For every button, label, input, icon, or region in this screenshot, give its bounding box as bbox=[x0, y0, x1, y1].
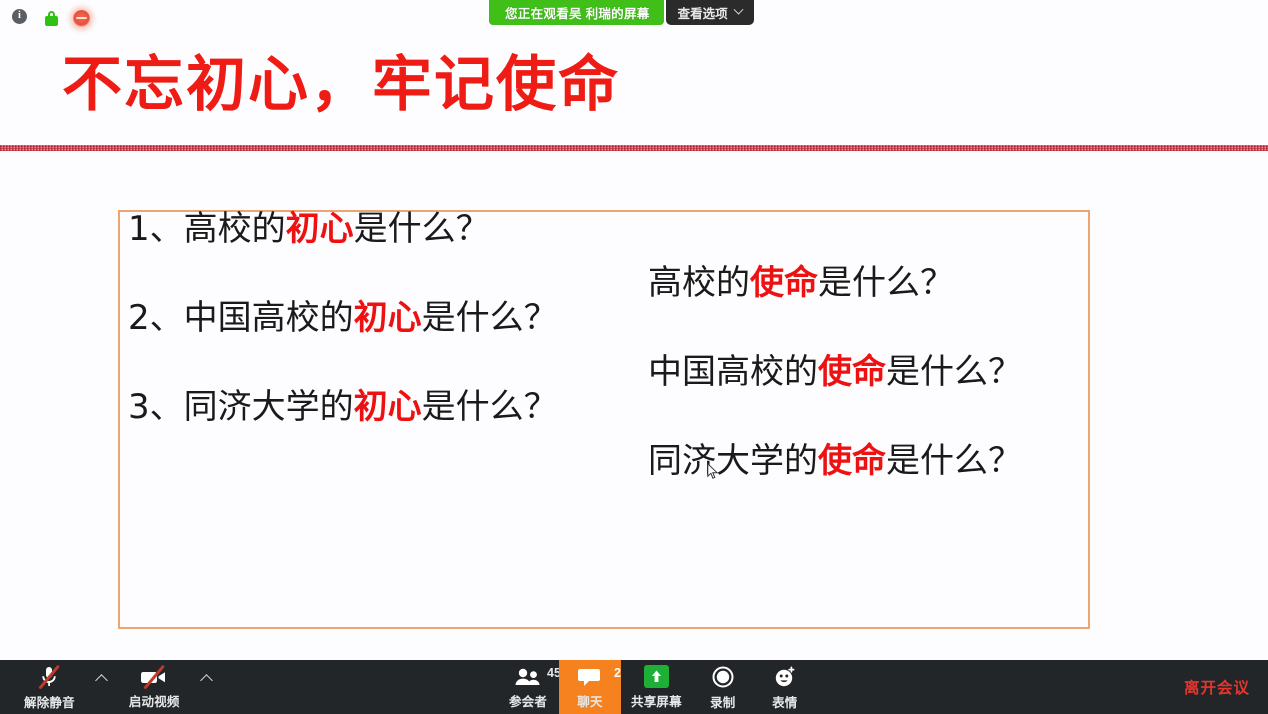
view-options-label: 查看选项 bbox=[678, 3, 728, 22]
title-divider bbox=[0, 145, 1268, 151]
chat-button[interactable]: 2 聊天 bbox=[559, 660, 621, 714]
question-item: 3、同济大学的初心是什么？ bbox=[128, 390, 628, 424]
chat-bubble-icon: 2 bbox=[576, 665, 604, 688]
share-screen-up-arrow-icon bbox=[644, 665, 669, 688]
share-screen-label: 共享屏幕 bbox=[631, 691, 682, 710]
meeting-toolbar: 解除静音 启动视频 bbox=[0, 660, 1268, 714]
question-post: 是什么？ bbox=[354, 209, 490, 249]
question-pre: 同济大学的 bbox=[184, 387, 354, 427]
question-item: 1、高校的初心是什么？ bbox=[128, 212, 628, 246]
question-pre: 中国高校的 bbox=[184, 298, 354, 338]
question-item: 2、中国高校的初心是什么？ bbox=[128, 301, 628, 335]
reactions-label: 表情 bbox=[772, 692, 797, 711]
chat-unread-badge: 2 bbox=[614, 666, 621, 680]
record-button[interactable]: 录制 bbox=[692, 660, 754, 714]
question-post: 是什么？ bbox=[886, 441, 1022, 481]
participants-icon: 454 bbox=[513, 665, 543, 688]
status-icons-group: i bbox=[12, 9, 90, 27]
question-post: 是什么？ bbox=[886, 352, 1022, 392]
question-item: 中国高校的使命是什么？ bbox=[648, 355, 1078, 389]
slide-title: 不忘初心，牢记使命 bbox=[62, 54, 620, 117]
video-off-icon bbox=[139, 665, 169, 688]
audio-options-chevron-up-icon[interactable] bbox=[85, 660, 119, 714]
toolbar-center-group: 454 参会者 2 聊天 bbox=[497, 660, 816, 714]
share-screen-button[interactable]: 共享屏幕 bbox=[621, 660, 692, 714]
chevron-down-icon bbox=[733, 5, 743, 15]
toolbar-left-group: 解除静音 启动视频 bbox=[0, 660, 224, 714]
microphone-muted-icon bbox=[39, 665, 59, 689]
lock-body bbox=[45, 16, 58, 26]
info-icon[interactable]: i bbox=[12, 9, 30, 27]
question-pre: 高校的 bbox=[648, 263, 750, 303]
question-highlight: 使命 bbox=[750, 263, 818, 303]
unmute-button[interactable]: 解除静音 bbox=[14, 660, 85, 714]
reactions-button[interactable]: 表情 bbox=[754, 660, 816, 714]
participants-label: 参会者 bbox=[509, 691, 547, 710]
question-post: 是什么？ bbox=[422, 298, 558, 338]
chat-label: 聊天 bbox=[577, 691, 602, 710]
question-number: 3、 bbox=[128, 387, 184, 427]
view-options-button[interactable]: 查看选项 bbox=[666, 0, 754, 25]
question-highlight: 初心 bbox=[354, 387, 422, 427]
question-post: 是什么？ bbox=[422, 387, 558, 427]
question-pre: 高校的 bbox=[184, 209, 286, 249]
toolbar-right-group: 离开会议 bbox=[1184, 660, 1268, 714]
smiley-plus-icon bbox=[773, 665, 797, 689]
record-label: 录制 bbox=[710, 692, 735, 711]
question-number: 2、 bbox=[128, 298, 184, 338]
info-icon-glyph: i bbox=[12, 9, 27, 24]
share-banner-message: 您正在观看吴 利瑞的屏幕 bbox=[489, 0, 664, 25]
video-options-chevron-up-icon[interactable] bbox=[190, 660, 224, 714]
question-highlight: 使命 bbox=[818, 441, 886, 481]
leave-meeting-button[interactable]: 离开会议 bbox=[1184, 676, 1250, 698]
question-pre: 同济大学的 bbox=[648, 441, 818, 481]
unmute-label: 解除静音 bbox=[24, 692, 75, 711]
question-highlight: 初心 bbox=[354, 298, 422, 338]
screen-share-banner: 您正在观看吴 利瑞的屏幕 查看选项 bbox=[489, 0, 754, 25]
start-video-label: 启动视频 bbox=[129, 691, 180, 710]
participants-button[interactable]: 454 参会者 bbox=[497, 660, 559, 714]
questions-left-column: 1、高校的初心是什么？ 2、中国高校的初心是什么？ 3、同济大学的初心是什么？ bbox=[128, 212, 628, 424]
record-circle-icon bbox=[711, 665, 735, 689]
question-post: 是什么？ bbox=[818, 263, 954, 303]
question-highlight: 使命 bbox=[818, 352, 886, 392]
zoom-shared-screen-view: i 您正在观看吴 利瑞的屏幕 查看选项 不忘初心，牢记使命 1、高校的初心是什么… bbox=[0, 0, 1268, 714]
question-item: 高校的使命是什么？ bbox=[648, 266, 1078, 300]
recording-indicator-icon[interactable] bbox=[73, 10, 90, 27]
question-item: 同济大学的使命是什么？ bbox=[648, 444, 1078, 478]
question-number: 1、 bbox=[128, 209, 184, 249]
question-pre: 中国高校的 bbox=[648, 352, 818, 392]
start-video-button[interactable]: 启动视频 bbox=[119, 660, 190, 714]
question-highlight: 初心 bbox=[286, 209, 354, 249]
lock-icon[interactable] bbox=[45, 11, 58, 26]
questions-right-column: 高校的使命是什么？ 中国高校的使命是什么？ 同济大学的使命是什么？ bbox=[648, 266, 1078, 478]
